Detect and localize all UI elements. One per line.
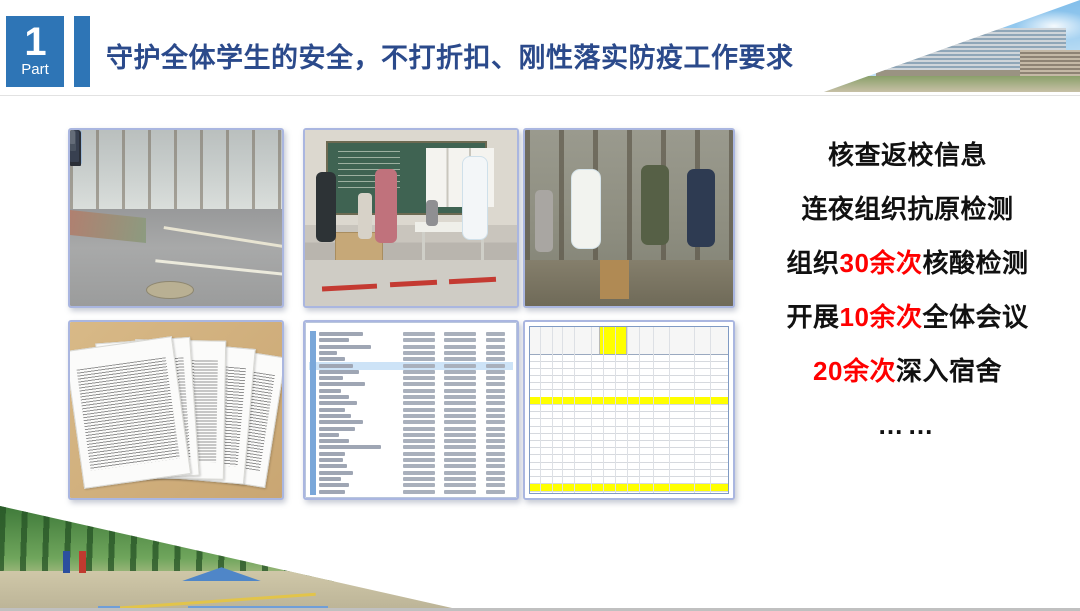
spreadsheet-column-divider — [669, 327, 670, 493]
bullet-highlight: 10余次 — [840, 302, 923, 332]
bullet-post: 全体会议 — [922, 302, 1028, 332]
campus-ground — [824, 76, 1080, 92]
spreadsheet-column-divider — [603, 327, 604, 493]
photo-printed-rosters — [68, 320, 284, 500]
spreadsheet-column-divider — [562, 327, 563, 493]
bullet-line-1: 核查返校信息 — [735, 142, 1080, 168]
spreadsheet-column-divider — [615, 327, 616, 493]
photo-content — [525, 130, 733, 306]
photo-classroom-checkpoint — [303, 128, 519, 308]
header-divider — [0, 95, 1080, 96]
bullet-pre: 开展 — [787, 302, 840, 332]
bullet-post: 连夜组织抗原检测 — [801, 194, 1013, 224]
bystander-figure — [535, 190, 553, 252]
part-number: 1 — [24, 24, 45, 61]
bullet-post: 深入宿舍 — [896, 356, 1002, 386]
student-figure — [687, 169, 715, 247]
spreadsheet-content — [525, 322, 733, 498]
bullet-line-5: 20余次深入宿舍 — [735, 358, 1080, 384]
spreadsheet-column-divider — [710, 327, 711, 493]
student-figure — [316, 172, 336, 242]
file-list-content — [305, 322, 517, 498]
bullet-line-ellipsis: …… — [735, 412, 1080, 438]
ppe-worker-figure — [571, 169, 601, 249]
header-banner-image — [824, 0, 1080, 92]
seated-staff-figure — [426, 200, 438, 226]
photo-spreadsheet — [523, 320, 735, 500]
bullet-post: 核酸检测 — [922, 248, 1028, 278]
bullet-pre: 组织 — [787, 248, 840, 278]
bullet-line-4: 开展10余次全体会议 — [735, 304, 1080, 330]
bullet-highlight: 20余次 — [813, 356, 896, 386]
blue-street-banner — [63, 551, 70, 573]
footer-campus-road-image — [0, 506, 452, 608]
ground — [525, 260, 733, 306]
spreadsheet-column-divider — [639, 327, 640, 493]
bullet-post: 核查返校信息 — [828, 140, 987, 170]
spreadsheet-grid — [529, 326, 729, 494]
student-figure — [641, 165, 669, 245]
staff-figure — [358, 193, 372, 239]
file-size — [486, 490, 504, 494]
file-row[interactable] — [309, 488, 513, 496]
file-type — [444, 490, 477, 494]
photo-content — [70, 322, 282, 498]
student-figure — [375, 169, 397, 243]
part-word: Part — [21, 62, 49, 79]
part-accent-bar — [74, 16, 90, 87]
spreadsheet-row[interactable] — [530, 484, 728, 492]
secondary-building — [1020, 50, 1080, 78]
ppe-worker-figure — [462, 156, 488, 240]
spreadsheet-column-divider — [540, 327, 541, 493]
red-flag — [942, 34, 950, 40]
wooden-stool — [600, 260, 629, 299]
photo-file-explorer-list — [303, 320, 519, 500]
photo-content — [70, 130, 282, 306]
bare-trees — [70, 130, 282, 218]
spreadsheet-column-divider — [574, 327, 575, 493]
file-name — [319, 490, 345, 494]
bullet-highlight: 30余次 — [840, 248, 923, 278]
bullet-list: 核查返校信息 连夜组织抗原检测 组织30余次核酸检测 开展10余次全体会议 20… — [735, 142, 1080, 438]
spreadsheet-column-divider — [653, 327, 654, 493]
spreadsheet-column-divider — [552, 327, 553, 493]
file-date — [403, 490, 436, 494]
spreadsheet-header-row — [530, 327, 728, 355]
spreadsheet-column-divider — [591, 327, 592, 493]
part-badge: 1 Part — [6, 16, 64, 87]
spreadsheet-column-divider — [627, 327, 628, 493]
footer-accent-mark — [188, 606, 328, 608]
page-title: 守护全体学生的安全，不打折扣、刚性落实防疫工作要求 — [106, 36, 794, 75]
footer-accent-mark — [98, 606, 120, 608]
photo-content — [305, 130, 517, 306]
slide-canvas: 1 Part 守护全体学生的安全，不打折扣、刚性落实防疫工作要求 — [0, 0, 1080, 611]
roster-sheet — [70, 336, 191, 489]
photo-outdoor-registration — [523, 128, 735, 308]
document-icon — [310, 488, 316, 495]
photo-students-queue — [68, 128, 284, 308]
red-street-banner — [79, 551, 86, 573]
bullet-line-2: 连夜组织抗原检测 — [735, 196, 1080, 222]
bullet-line-3: 组织30余次核酸检测 — [735, 250, 1080, 276]
spreadsheet-column-divider — [694, 327, 695, 493]
